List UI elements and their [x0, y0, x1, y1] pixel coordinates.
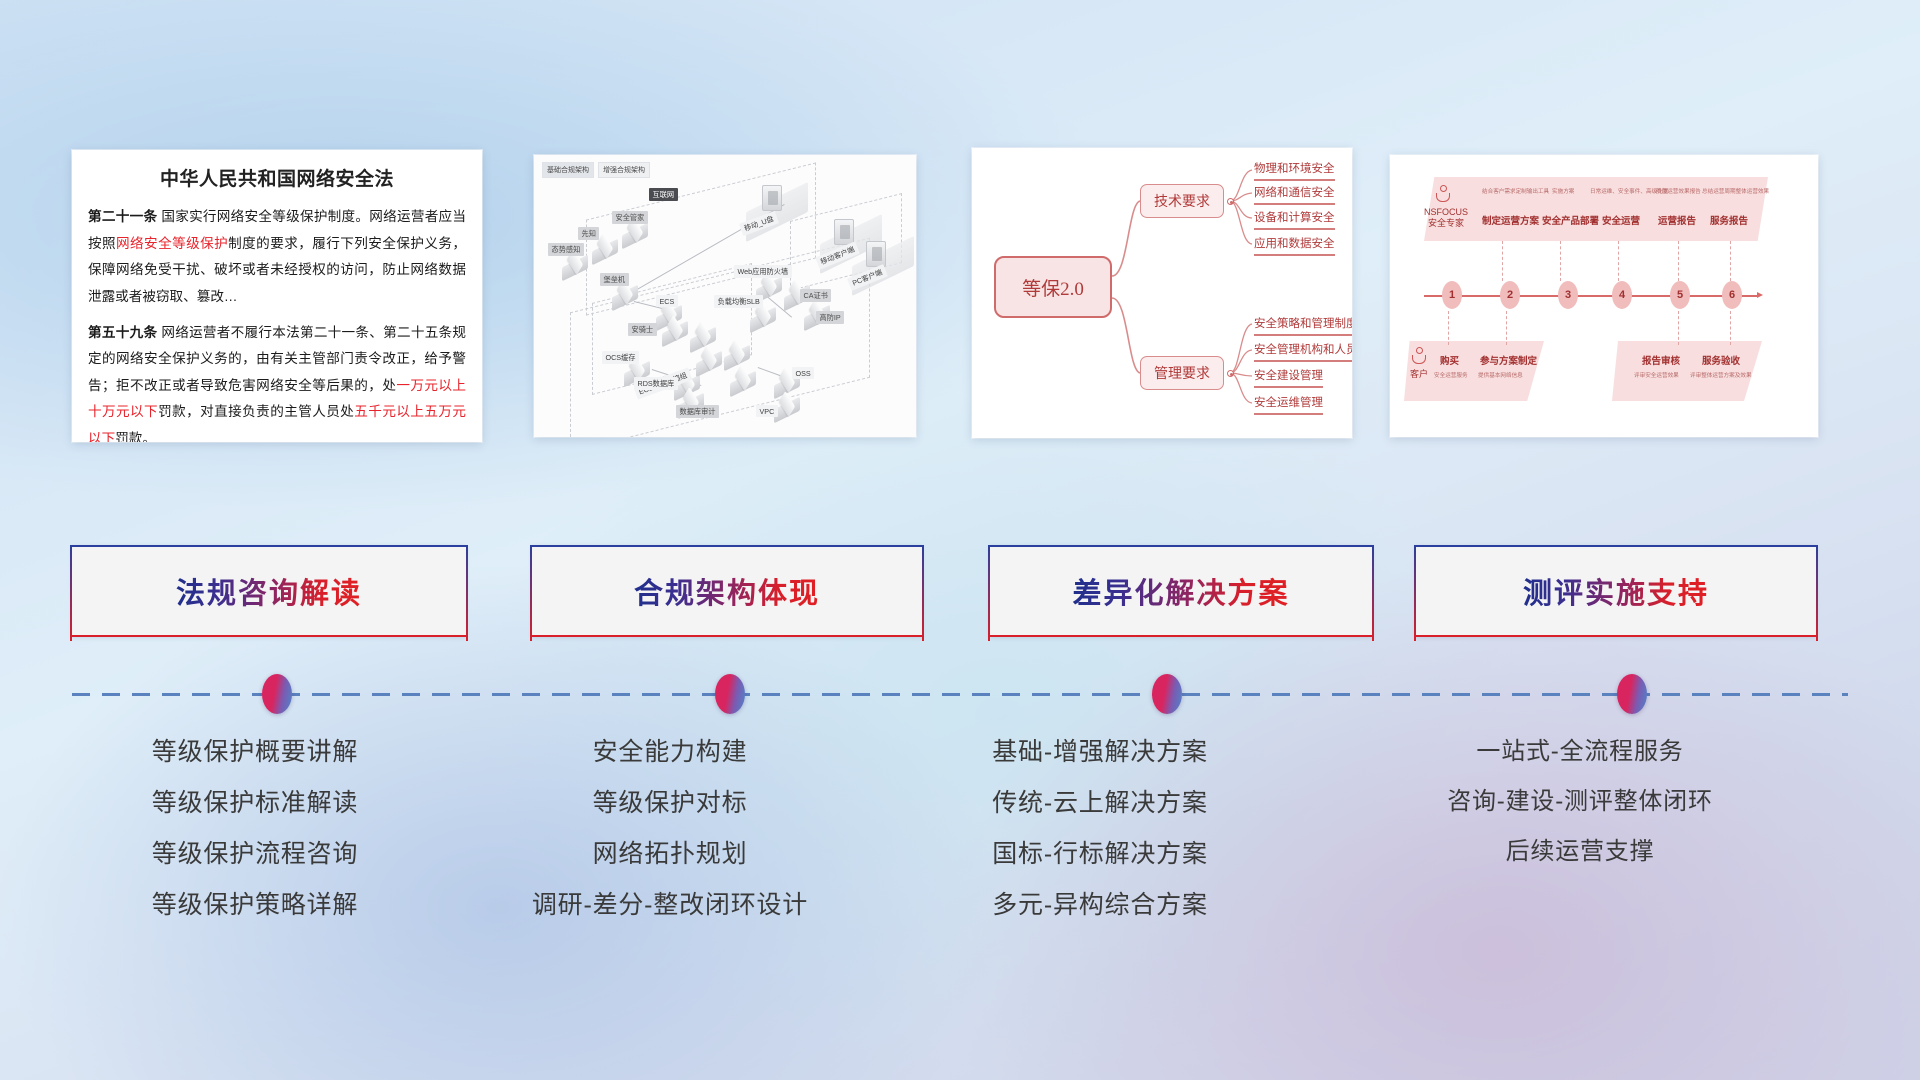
list-item: 后续运营支撑: [1340, 840, 1820, 864]
card-mindmap-dengbao: 等保2.0 技术要求 物理和环境安全 网络和通信安全 设备和计算安全 应用和数据…: [972, 148, 1352, 438]
bottom-step-sub-4: 评审整体运营方案及效果: [1690, 371, 1752, 379]
top-step-title-2: 安全产品部署: [1542, 213, 1599, 227]
mindmap-leaf-tech-1: 物理和环境安全: [1254, 160, 1335, 181]
node-xianzhi: [592, 239, 618, 259]
detail-column-4: 一站式-全流程服务 咨询-建设-测评整体闭环 后续运营支撑: [1340, 740, 1820, 890]
timeline-node-6: 6: [1722, 281, 1742, 309]
top-step-sub-4: 阶段运营效果报告: [1656, 187, 1701, 195]
timeline-rail-dot-4: [1617, 674, 1647, 714]
list-item: 安全能力构建: [470, 740, 870, 765]
node-situation-awareness: [562, 255, 588, 275]
top-step-sub-5: 总结运营周期整体运营效果: [1702, 187, 1769, 195]
mindmap-leaf-tech-2: 网络和通信安全: [1254, 184, 1335, 205]
card-cloud-architecture: 基础合规架构 增强合规架构 互联网 安全管家 先知 态势感知 移动_U盘 移动客…: [534, 155, 916, 437]
article-59-label: 第五十九条: [88, 325, 157, 340]
node-mobile-user: [762, 185, 782, 211]
timeline-node-3: 3: [1558, 281, 1578, 309]
law-card-title: 中华人民共和国网络安全法: [72, 164, 482, 191]
mindmap-collapse-dot-management[interactable]: [1227, 370, 1234, 377]
node-mobile-client: [834, 219, 854, 245]
timeline-connector-bot-2: [1506, 311, 1507, 345]
node-anqishi: [662, 321, 688, 341]
label-vpc: VPC: [756, 405, 778, 417]
expert-name: NSFOCUS: [1424, 207, 1468, 217]
service-timeline-diagram: NSFOCUS 安全专家 结合客户需求定制输出工具 制定运营方案 实施方案 安全…: [1390, 155, 1818, 437]
label-waf: Web应用防火墙: [734, 265, 792, 278]
top-step-title-4: 运营报告: [1658, 213, 1696, 227]
list-item: 等级保护对标: [470, 791, 870, 816]
label-ocs-cache: OCS缓存: [602, 351, 639, 364]
headline-label-1: 法规咨询解读: [176, 570, 362, 612]
list-item: 等级保护概要讲解: [60, 740, 450, 765]
label-xianzhi: 先知: [578, 227, 599, 240]
architecture-tabs: 基础合规架构 增强合规架构: [542, 162, 650, 178]
tab-enhanced-architecture[interactable]: 增强合规架构: [598, 162, 650, 178]
bottom-step-title-2: 参与方案制定: [1480, 353, 1537, 367]
security-expert-icon: [1436, 185, 1450, 203]
node-security-butler: [622, 223, 648, 243]
list-item: 调研-差分-整改闭环设计: [470, 893, 870, 918]
customer-icon: [1412, 347, 1426, 365]
headline-box-compliance-architecture[interactable]: 合规架构体现: [532, 545, 922, 637]
label-internet: 互联网: [649, 188, 678, 201]
tab-basic-architecture[interactable]: 基础合规架构: [542, 162, 594, 178]
label-situation-awareness: 态势感知: [548, 243, 584, 256]
list-item: 多元-异构综合方案: [900, 893, 1300, 918]
timeline-rail-line: [72, 693, 1848, 696]
top-step-title-5: 服务报告: [1710, 213, 1748, 227]
bottom-step-sub-2: 提供基本网络信息: [1478, 371, 1523, 379]
headline-label-2: 合规架构体现: [634, 570, 820, 612]
timeline-connector-bot-5: [1678, 311, 1679, 345]
mindmap-root-node: 等保2.0: [994, 256, 1112, 318]
bottom-step-sub-1: 安全运营服务: [1434, 371, 1468, 379]
timeline-rail: [72, 693, 1848, 696]
timeline-rail-dot-3: [1152, 674, 1182, 714]
list-item: 等级保护策略详解: [60, 893, 450, 918]
law-article-21: 第二十一条 国家实行网络安全等级保护制度。网络运营者应当按照网络安全等级保护制度…: [88, 204, 466, 311]
article-21-label: 第二十一条: [88, 209, 157, 224]
label-anti-ddos-ip: 高防IP: [816, 311, 844, 324]
timeline-customer-label: 客户: [1410, 369, 1428, 380]
label-anqishi: 安骑士: [628, 323, 657, 336]
bottom-step-title-3: 报告审核: [1642, 353, 1680, 367]
timeline-node-1: 1: [1442, 281, 1462, 309]
article-59-text-2: 罚款，对直接负责的主管人员处: [158, 404, 354, 419]
law-article-59: 第五十九条 网络运营者不履行本法第二十一条、第二十五条规定的网络安全保护义务的，…: [88, 320, 466, 442]
timeline-connector-bot-6: [1730, 311, 1731, 345]
node-vpc: [774, 397, 800, 417]
law-card-body: 第二十一条 国家实行网络安全等级保护制度。网络运营者应当按照网络安全等级保护制度…: [72, 204, 482, 442]
timeline-node-2: 2: [1500, 281, 1520, 309]
label-security-butler: 安全管家: [612, 211, 648, 224]
mindmap-leaf-tech-4: 应用和数据安全: [1254, 235, 1335, 256]
timeline-axis: [1424, 295, 1758, 297]
list-item: 国标-行标解决方案: [900, 842, 1300, 867]
expert-role: 安全专家: [1428, 218, 1464, 228]
node-pc-client: [866, 241, 886, 267]
architecture-diagram: 基础合规架构 增强合规架构 互联网 安全管家 先知 态势感知 移动_U盘 移动客…: [534, 155, 916, 437]
article-21-highlight: 网络安全等级保护: [116, 236, 228, 251]
top-step-title-3: 安全运营: [1602, 213, 1640, 227]
mindmap-collapse-dot-technical[interactable]: [1227, 198, 1234, 205]
detail-column-3: 基础-增强解决方案 传统-云上解决方案 国标-行标解决方案 多元-异构综合方案: [900, 740, 1300, 944]
node-slb: [750, 307, 776, 327]
detail-column-1: 等级保护概要讲解 等级保护标准解读 等级保护流程咨询 等级保护策略详解: [60, 740, 450, 944]
node-waf: [756, 277, 782, 297]
timeline-connector-top-6: [1730, 241, 1731, 281]
bottom-step-sub-3: 评审安全运营效果: [1634, 371, 1679, 379]
node-ecs-instance-5: [730, 371, 756, 391]
label-db-audit: 数据库审计: [676, 405, 719, 418]
headline-box-regulation-consulting[interactable]: 法规咨询解读: [72, 545, 466, 637]
bottom-step-title-4: 服务验收: [1702, 353, 1740, 367]
timeline-connector-bot-1: [1448, 311, 1449, 345]
list-item: 一站式-全流程服务: [1340, 740, 1820, 764]
mindmap-leaf-mgmt-1: 安全策略和管理制度: [1254, 315, 1352, 336]
list-item: 等级保护流程咨询: [60, 842, 450, 867]
timeline-connector-top-2: [1502, 241, 1503, 281]
mindmap-branch-management: 管理要求: [1140, 356, 1224, 390]
timeline-node-5: 5: [1670, 281, 1690, 309]
label-rds: RDS数据库: [634, 377, 678, 390]
label-ecs: ECS: [656, 295, 678, 307]
timeline-connector-top-4: [1618, 241, 1619, 281]
detail-column-2: 安全能力构建 等级保护对标 网络拓扑规划 调研-差分-整改闭环设计: [470, 740, 870, 944]
headline-box-assessment-support[interactable]: 测评实施支持: [1416, 545, 1816, 637]
list-item: 咨询-建设-测评整体闭环: [1340, 790, 1820, 814]
node-ecs-instance-4: [696, 351, 722, 371]
label-bastion-host: 堡垒机: [600, 273, 629, 286]
headline-box-row: 法规咨询解读 合规架构体现 差异化解决方案 测评实施支持: [0, 545, 1920, 645]
headline-label-3: 差异化解决方案: [1072, 570, 1289, 612]
node-bastion-host: [612, 285, 638, 305]
list-item: 基础-增强解决方案: [900, 740, 1300, 765]
list-item: 等级保护标准解读: [60, 791, 450, 816]
timeline-connector-top-3: [1560, 241, 1561, 281]
timeline-expert-label: NSFOCUS 安全专家: [1424, 207, 1468, 230]
card-service-timeline: NSFOCUS 安全专家 结合客户需求定制输出工具 制定运营方案 实施方案 安全…: [1390, 155, 1818, 437]
bottom-step-title-1: 购买: [1440, 353, 1459, 367]
card-cybersecurity-law: 中华人民共和国网络安全法 第二十一条 国家实行网络安全等级保护制度。网络运营者应…: [72, 150, 482, 442]
list-item: 传统-云上解决方案: [900, 791, 1300, 816]
article-59-text-3: 罚款。: [115, 431, 156, 442]
timeline-rail-dot-2: [715, 674, 745, 714]
label-oss: OSS: [792, 367, 814, 379]
label-slb: 负载均衡SLB: [714, 295, 763, 308]
headline-label-4: 测评实施支持: [1523, 570, 1709, 612]
mindmap-leaf-mgmt-2: 安全管理机构和人员: [1254, 341, 1352, 362]
label-ca-certificate: CA证书: [800, 289, 831, 302]
headline-box-differentiated-solution[interactable]: 差异化解决方案: [990, 545, 1372, 637]
top-step-sub-1: 结合客户需求定制输出工具: [1482, 187, 1549, 195]
mindmap-leaf-mgmt-4: 安全运维管理: [1254, 394, 1323, 415]
mindmap-leaf-mgmt-3: 安全建设管理: [1254, 367, 1323, 388]
list-item: 网络拓扑规划: [470, 842, 870, 867]
top-step-sub-2: 实施方案: [1552, 187, 1574, 195]
top-step-title-1: 制定运营方案: [1482, 213, 1539, 227]
detail-column-row: 等级保护概要讲解 等级保护标准解读 等级保护流程咨询 等级保护策略详解 安全能力…: [0, 740, 1920, 1000]
timeline-connector-top-5: [1678, 241, 1679, 281]
timeline-rail-dot-1: [262, 674, 292, 714]
reference-card-row: 中华人民共和国网络安全法 第二十一条 国家实行网络安全等级保护制度。网络运营者应…: [0, 0, 1920, 470]
mindmap-diagram: 等保2.0 技术要求 物理和环境安全 网络和通信安全 设备和计算安全 应用和数据…: [972, 148, 1352, 438]
timeline-node-4: 4: [1612, 281, 1632, 309]
mindmap-leaf-tech-3: 设备和计算安全: [1254, 209, 1335, 230]
mindmap-branch-technical: 技术要求: [1140, 184, 1224, 218]
